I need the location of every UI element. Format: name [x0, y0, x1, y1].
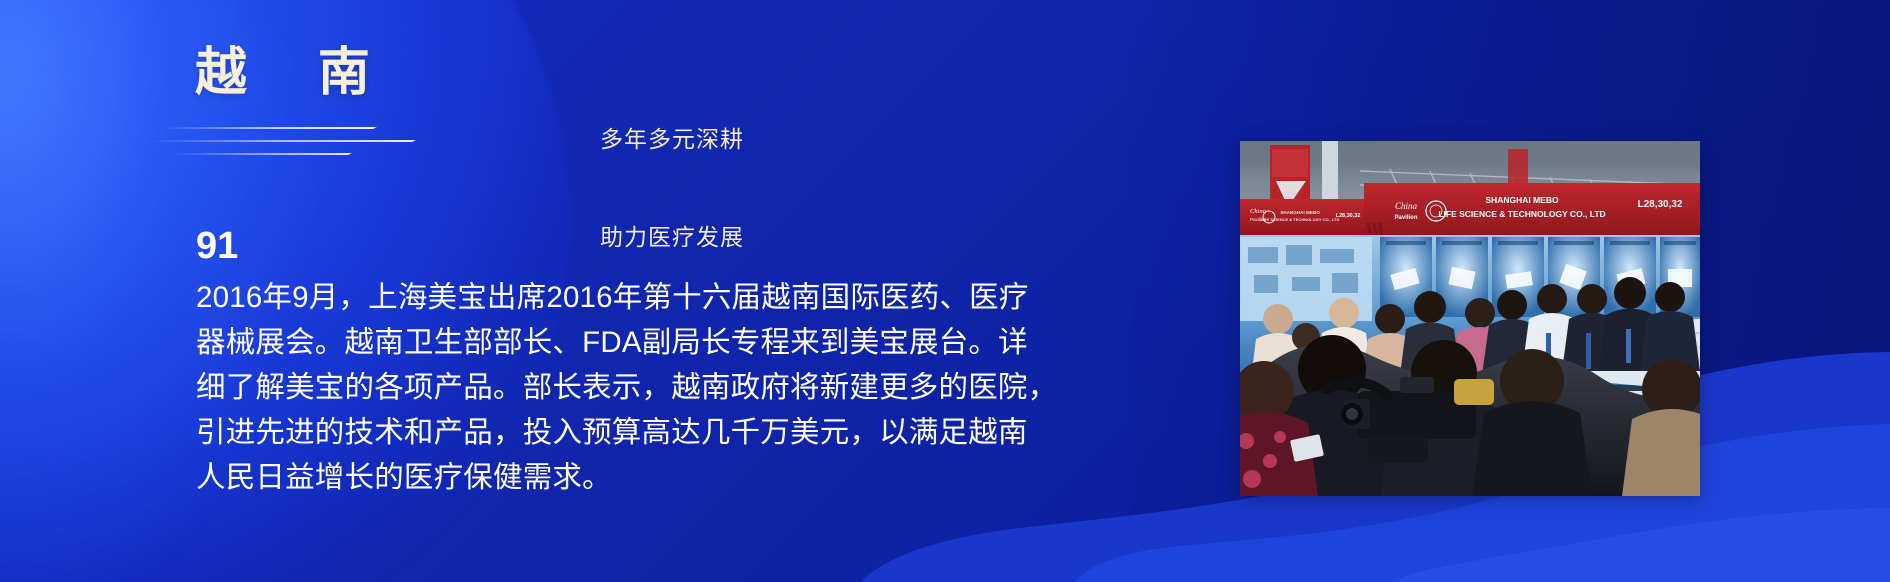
- paragraph-line-4: 引进先进的技术和产品，投入预算高达几千万美元，以满足越南: [196, 410, 1136, 455]
- body-block: 91 2016年9月，上海美宝出席2016年第十六届越南国际医药、医疗 器械展会…: [196, 227, 1136, 500]
- svg-text:China: China: [1395, 201, 1418, 211]
- svg-text:LIFE SCIENCE & TECHNOLOGY CO.,: LIFE SCIENCE & TECHNOLOGY CO., LTD: [1438, 209, 1605, 219]
- svg-text:SHANGHAI MEBO: SHANGHAI MEBO: [1280, 210, 1320, 215]
- svg-text:LIFE SCIENCE & TECHNOLOGY CO.,: LIFE SCIENCE & TECHNOLOGY CO., LTD: [1261, 217, 1340, 222]
- slide-title: 越 南: [195, 46, 384, 101]
- paragraph-line-2: 器械展会。越南卫生部部长、FDA副局长专程来到美宝展台。详: [196, 320, 1136, 365]
- body-paragraph: 2016年9月，上海美宝出席2016年第十六届越南国际医药、医疗 器械展会。越南…: [196, 275, 1136, 500]
- title-decoration-rules: [130, 118, 430, 168]
- item-number: 91: [196, 227, 1136, 265]
- svg-text:Pavilion: Pavilion: [1394, 215, 1417, 221]
- decoration-rule-2: [150, 140, 416, 142]
- decoration-rule-3: [172, 153, 352, 155]
- subtitle-line-1: 多年多元深耕: [600, 123, 744, 156]
- presentation-slide: 越 南 多年多元深耕 助力医疗发展 91 2016年9月，上海美宝出席2016年…: [0, 0, 1890, 582]
- paragraph-line-1: 2016年9月，上海美宝出席2016年第十六届越南国际医药、医疗: [196, 275, 1136, 320]
- paragraph-line-5: 人民日益增长的医疗保健需求。: [196, 455, 1136, 500]
- svg-text:SHANGHAI MEBO: SHANGHAI MEBO: [1485, 195, 1559, 205]
- svg-text:L28,30,32: L28,30,32: [1637, 199, 1682, 210]
- event-photo: SHANGHAI MEBO LIFE SCIENCE & TECHNOLOGY …: [1240, 141, 1700, 496]
- svg-text:L28,30,32: L28,30,32: [1336, 213, 1361, 219]
- decoration-rule-1: [163, 127, 377, 129]
- paragraph-line-3: 细了解美宝的各项产品。部长表示，越南政府将新建更多的医院，: [196, 365, 1136, 410]
- title-block: 越 南: [195, 46, 384, 101]
